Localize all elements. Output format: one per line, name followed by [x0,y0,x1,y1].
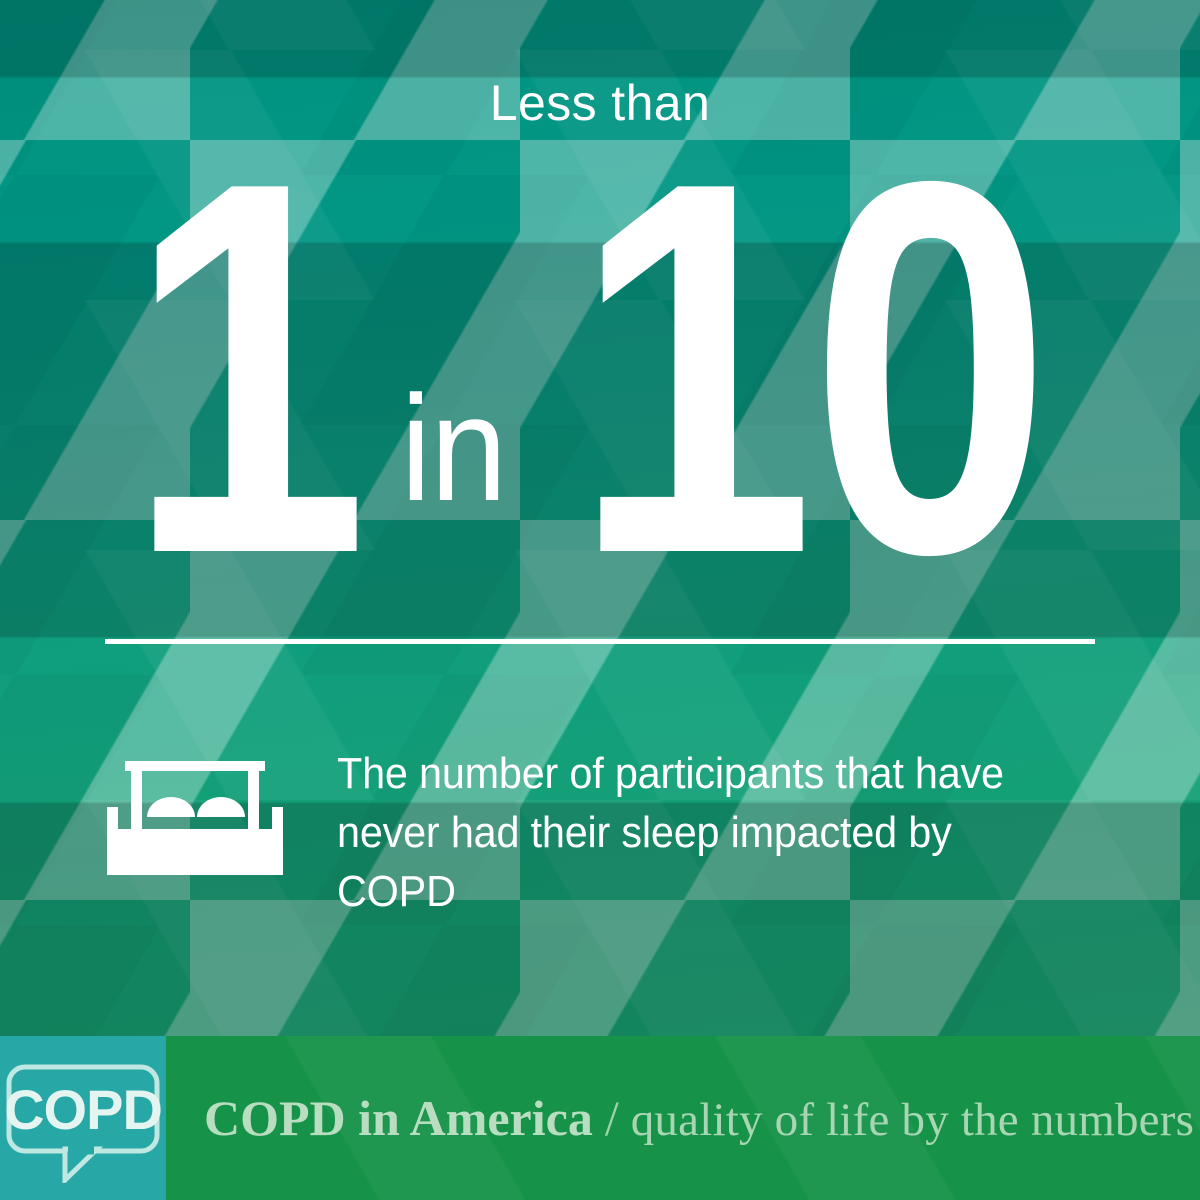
footer-tagline: quality of life by the numbers [631,1093,1194,1147]
svg-text:COPD: COPD [4,1078,162,1141]
copd-speech-bubble-logo: COPD [3,1061,163,1183]
statistic-denominator: 10 [573,162,1047,575]
statistic-connector: in [379,373,529,575]
bed-icon [105,753,285,885]
caption-text: The number of participants that have nev… [337,745,1059,922]
statistic-numerator: 1 [127,162,364,575]
caption-row: The number of participants that have nev… [105,745,1105,922]
footer-bar: COPD COPD in America / quality of life b… [0,1036,1200,1200]
footer-separator: / [593,1089,631,1147]
footer-brand: COPD in America [204,1089,593,1147]
logo-block[interactable]: COPD [0,1036,166,1200]
horizontal-divider [105,639,1095,644]
footer-title: COPD in America / quality of life by the… [204,1089,1194,1147]
infographic-canvas: Less than 1 in 10 The number of partic [0,0,1200,1200]
statistic-group: 1 in 10 [0,155,1200,575]
